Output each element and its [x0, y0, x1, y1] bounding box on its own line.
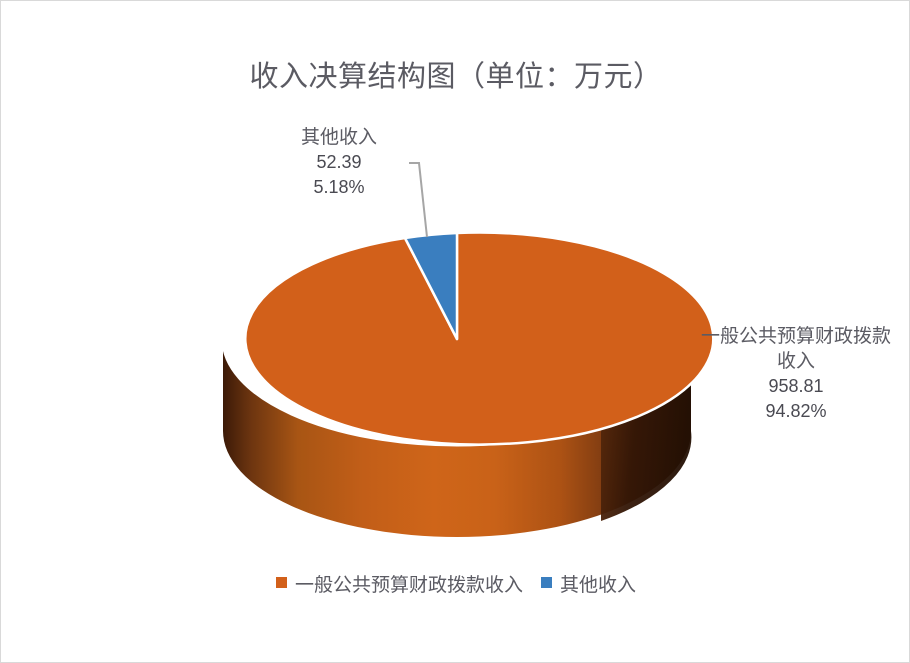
legend-label-other: 其他收入	[560, 570, 636, 597]
legend-item-other[interactable]: 其他收入	[541, 570, 636, 597]
data-label-other: 其他收入 52.39 5.18%	[259, 125, 419, 200]
data-label-general-value: 958.81	[698, 374, 894, 399]
legend-swatch-other-icon	[541, 577, 552, 588]
legend-item-general[interactable]: 一般公共预算财政拨款收入	[276, 570, 523, 597]
data-label-other-percent: 5.18%	[259, 175, 419, 200]
data-label-other-value: 52.39	[259, 150, 419, 175]
legend-label-general: 一般公共预算财政拨款收入	[295, 570, 523, 597]
pie-chart-figure: 收入决算结构图（单位：万元）	[0, 0, 910, 663]
data-label-general-percent: 94.82%	[698, 399, 894, 424]
pie-slice-general[interactable]	[245, 233, 713, 445]
data-label-other-category: 其他收入	[259, 125, 419, 150]
legend-swatch-general-icon	[276, 577, 287, 588]
data-label-general: 一般公共预算财政拨款收入 958.81 94.82%	[698, 324, 894, 424]
chart-legend: 一般公共预算财政拨款收入 其他收入	[1, 570, 910, 597]
data-label-general-category: 一般公共预算财政拨款收入	[698, 324, 894, 374]
